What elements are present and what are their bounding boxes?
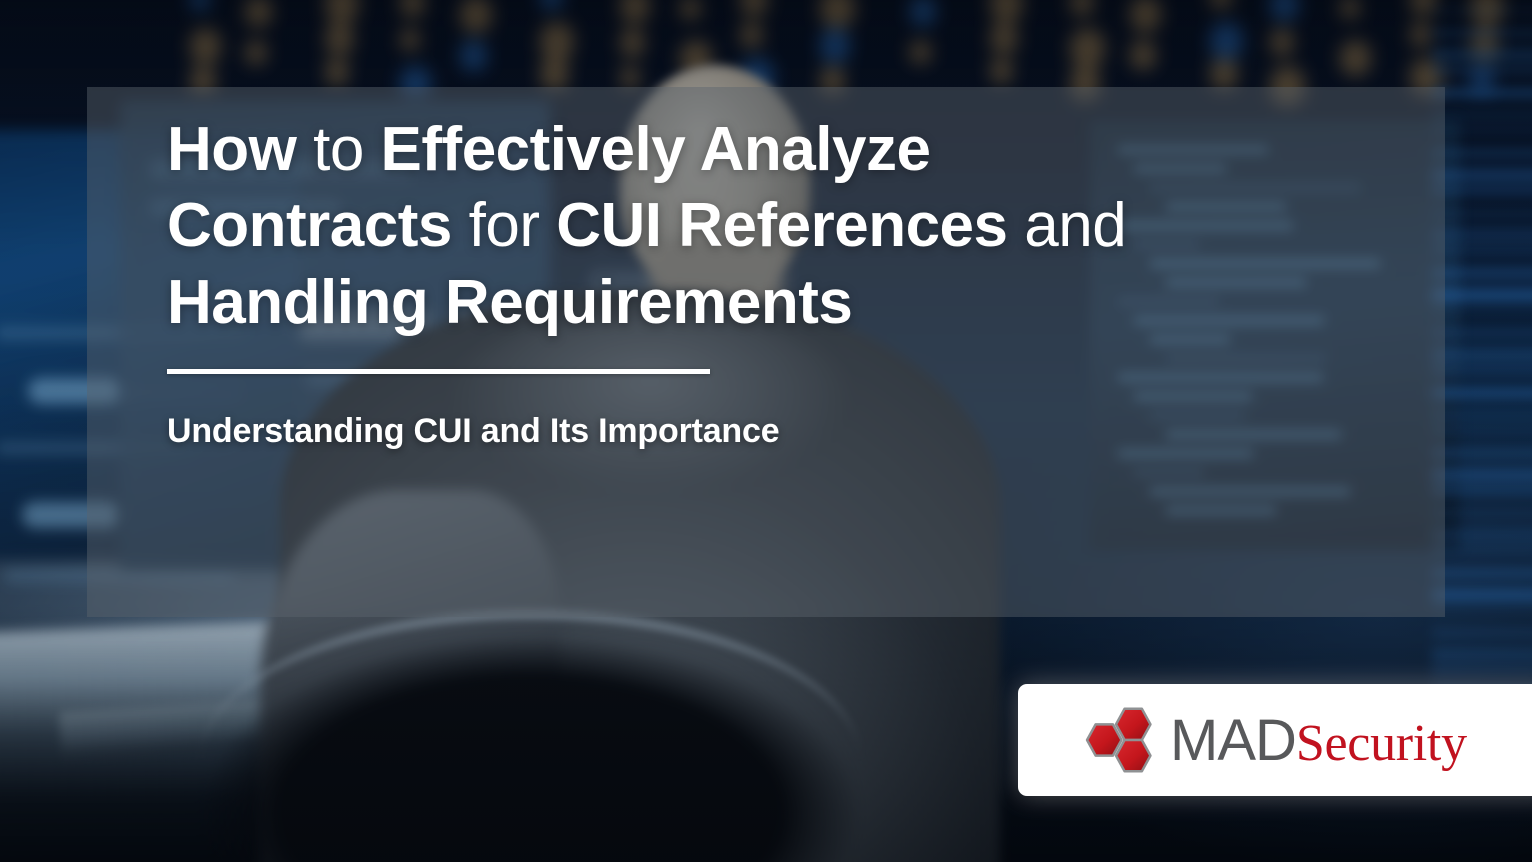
banner-canvas: How to Effectively Analyze Contracts for… bbox=[0, 0, 1532, 862]
brand-logo-card[interactable]: MAD Security bbox=[1018, 684, 1532, 796]
headline-word-to: to bbox=[313, 115, 380, 184]
headline-phrase-cui-references: CUI References bbox=[556, 191, 1024, 260]
headline-word-for: for bbox=[469, 191, 557, 260]
headline-word-contracts: Contracts bbox=[167, 191, 469, 260]
headline-phrase-handling-requirements: Handling Requirements bbox=[167, 268, 852, 337]
page-subtitle: Understanding CUI and Its Importance bbox=[167, 412, 1367, 451]
brand-wordmark: MAD Security bbox=[1170, 707, 1467, 774]
brand-name-security: Security bbox=[1296, 714, 1467, 773]
headline-line-3: Handling Requirements bbox=[167, 265, 1367, 341]
headline-word-how: How bbox=[167, 115, 313, 184]
headline-word-and: and bbox=[1024, 191, 1126, 260]
headline-phrase-effectively-analyze: Effectively Analyze bbox=[381, 115, 931, 184]
headline-line-1: How to Effectively Analyze bbox=[167, 112, 1367, 188]
title-block: How to Effectively Analyze Contracts for… bbox=[167, 112, 1367, 451]
headline-line-2: Contracts for CUI References and bbox=[167, 188, 1367, 264]
page-title: How to Effectively Analyze Contracts for… bbox=[167, 112, 1367, 341]
brand-name-mad: MAD bbox=[1170, 707, 1296, 774]
right-edge-monitor bbox=[1432, 0, 1532, 720]
three-hexagon-icon bbox=[1076, 704, 1156, 776]
title-divider-rule bbox=[167, 369, 710, 374]
